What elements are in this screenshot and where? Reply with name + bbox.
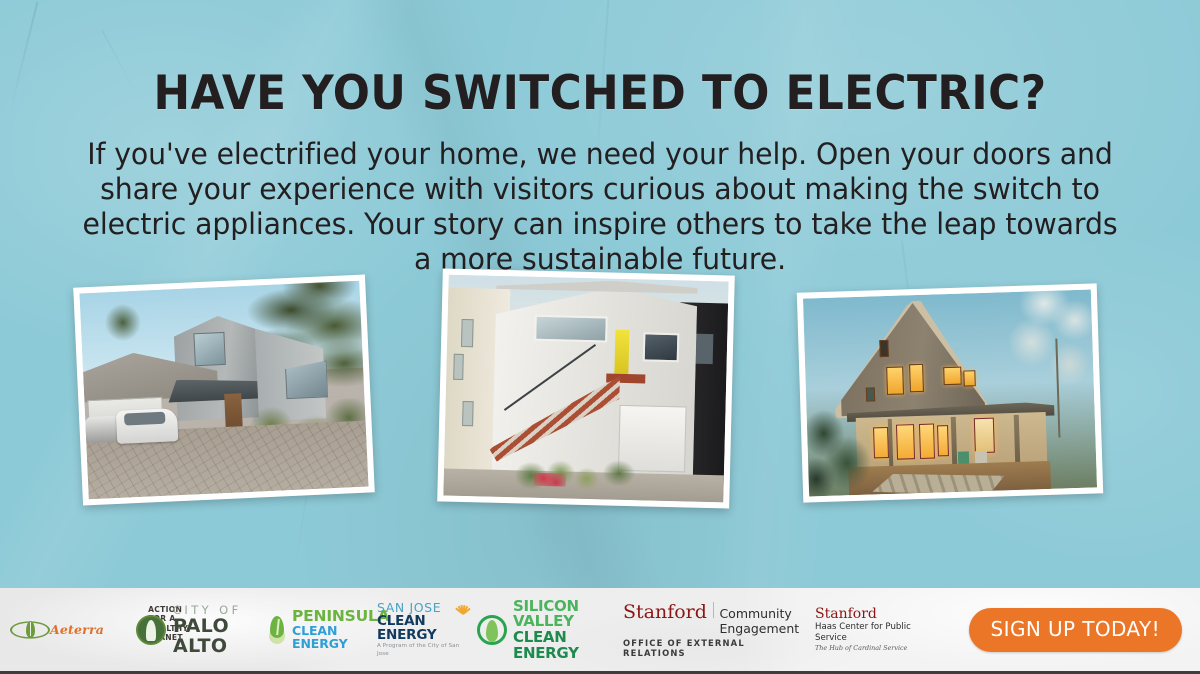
poster-canvas: HAVE YOU SWITCHED TO ELECTRIC? If you've… <box>0 0 1200 674</box>
palo-alto-line2: PALO ALTO <box>173 616 261 656</box>
photo-image-3 <box>803 290 1097 497</box>
cta-container: SIGN UP TODAY! <box>969 608 1200 652</box>
san-jose-line2: CLEAN ENERGY <box>377 614 471 642</box>
photo-card-2 <box>437 268 735 508</box>
sunburst-icon <box>451 598 475 614</box>
silicon-valley-line1: SILICON VALLEY <box>513 599 611 629</box>
footer-bar: Aeterra ACTION FOR A HEALTHY PLANET CITY… <box>0 588 1200 674</box>
leaf-circle-icon <box>477 615 507 645</box>
photo-image-2 <box>443 275 728 503</box>
divider <box>713 602 714 618</box>
logo-silicon-valley-clean-energy[interactable]: SILICON VALLEY CLEAN ENERGY <box>471 588 611 671</box>
haas-center-name: Haas Center for Public Service <box>815 622 931 644</box>
stanford-wordmark: Stanford <box>815 606 877 622</box>
logo-city-of-palo-alto[interactable]: CITY OF PALO ALTO <box>128 588 261 671</box>
palo-alto-line1: CITY OF <box>173 604 261 616</box>
silicon-valley-line2: CLEAN ENERGY <box>513 629 611 661</box>
logo-stanford-haas-center[interactable]: Stanford Haas Center for Public Service … <box>801 588 931 671</box>
sign-up-today-button[interactable]: SIGN UP TODAY! <box>969 608 1182 652</box>
stanford-subunit: OFFICE OF EXTERNAL RELATIONS <box>623 638 801 658</box>
photo-card-3 <box>797 283 1103 502</box>
stanford-unit: Community Engagement <box>719 606 801 636</box>
leaf-bulb-icon <box>267 616 287 644</box>
photo-image-1 <box>79 281 368 499</box>
tree-circle-icon <box>136 615 166 645</box>
partner-logo-strip: Aeterra ACTION FOR A HEALTHY PLANET CITY… <box>0 588 969 671</box>
photo-card-1 <box>73 274 375 505</box>
san-jose-line3: A Program of the City of San Jose <box>377 642 471 658</box>
logo-stanford-external-relations[interactable]: Stanford Community Engagement OFFICE OF … <box>611 588 801 671</box>
logo-peninsula-clean-energy[interactable]: PENINSULA CLEAN ENERGY <box>261 588 371 671</box>
page-title: HAVE YOU SWITCHED TO ELECTRIC? <box>42 66 1158 121</box>
aeterra-wordmark: Aeterra <box>50 624 104 636</box>
logo-san-jose-clean-energy[interactable]: SAN JOSE CLEAN ENERGY A Program of the C… <box>371 588 471 671</box>
haas-center-tagline: The Hub of Cardinal Service <box>815 644 907 653</box>
paper-crease <box>8 2 39 119</box>
stanford-wordmark: Stanford <box>623 602 707 622</box>
logo-aeterra[interactable]: Aeterra ACTION FOR A HEALTHY PLANET <box>10 588 128 671</box>
poster-body-text: If you've electrified your home, we need… <box>74 137 1126 277</box>
eye-leaf-icon <box>10 618 50 642</box>
